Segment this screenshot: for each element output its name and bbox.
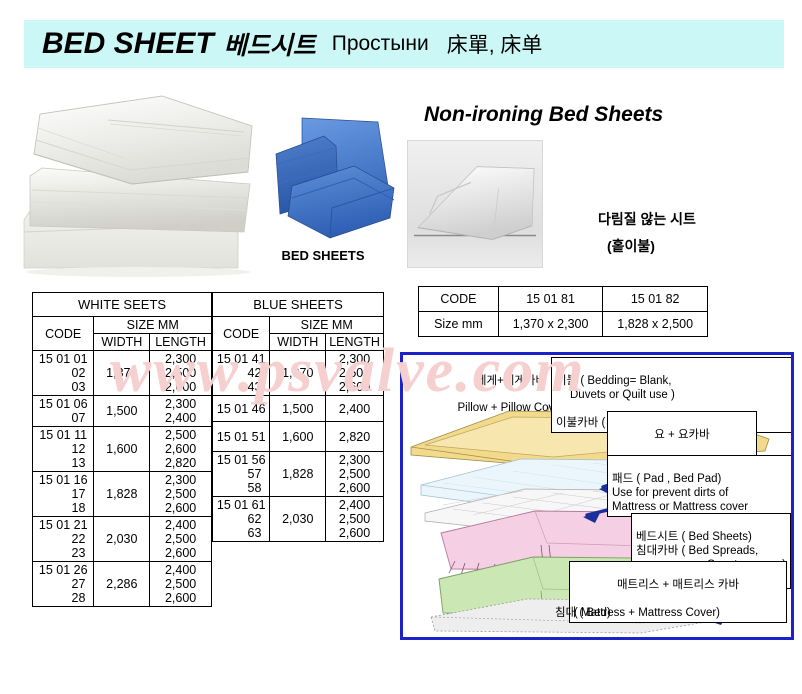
white-header-size: SIZE MM <box>94 317 212 334</box>
white-row-2-width: 1,600 <box>94 427 150 472</box>
table-row: 15 01 414243 1,370 2,300 2,500 2,600 <box>213 351 384 396</box>
blue-row-2-width: 1,600 <box>270 422 326 452</box>
blue-row-0-length: 2,300 2,500 2,600 <box>326 351 384 396</box>
blue-sheets-caption: BED SHEETS <box>258 248 388 263</box>
table-row: 15 01 565758 1,828 2,300 2,500 2,600 <box>213 452 384 497</box>
callout-pad-line3: Mattress or Mattress cover <box>612 501 748 513</box>
blue-header-size: SIZE MM <box>270 317 384 334</box>
white-row-5-width: 2,286 <box>94 562 150 607</box>
white-row-0-code: 15 01 010203 <box>33 351 94 396</box>
white-row-1-width: 1,500 <box>94 396 150 427</box>
page-title-english: BED SHEET <box>42 27 214 61</box>
callout-bedding-line1: 이불 ( Bedding= Blank, <box>556 375 671 387</box>
blue-bed-sheets-photo <box>262 112 398 244</box>
white-row-1-length: 2,300 2,400 <box>150 396 212 427</box>
callout-bedpad-line1: 요 + 요카바 <box>612 428 752 442</box>
bedding-layers-diagram-panel: 베게+베게카바 Pillow + Pillow Cover 이불 ( Beddi… <box>400 352 794 640</box>
callout-sheets-line1: 베드시트 ( Bed Sheets) <box>636 531 752 543</box>
blue-row-3-width: 1,828 <box>270 452 326 497</box>
blue-row-0-code: 15 01 414243 <box>213 351 270 396</box>
white-bed-sheets-photo <box>12 80 264 278</box>
white-row-0-width: 1,370 <box>94 351 150 396</box>
non-ironing-sheet-photo <box>407 140 543 268</box>
table-row: 15 01 010203 1,370 2,300 2,500 2,600 <box>33 351 212 396</box>
blue-row-3-code: 15 01 565758 <box>213 452 270 497</box>
white-row-4-length: 2,400 2,500 2,600 <box>150 517 212 562</box>
page-title-russian: Простыни <box>332 32 429 56</box>
table-row: 15 01 262728 2,286 2,400 2,500 2,600 <box>33 562 212 607</box>
callout-pad-line2: Use for prevent dirts of <box>612 487 728 499</box>
white-row-3-length: 2,300 2,500 2,600 <box>150 472 212 517</box>
size-value-1: 1,370 x 2,300 <box>498 312 603 337</box>
blue-row-4-length: 2,400 2,500 2,600 <box>326 497 384 542</box>
white-row-3-width: 1,828 <box>94 472 150 517</box>
blue-row-2-code: 15 01 51 <box>213 422 270 452</box>
table-row: 15 01 46 1,500 2,400 <box>213 396 384 422</box>
blue-header-code: CODE <box>213 317 270 351</box>
blue-header-length: LENGTH <box>326 334 384 351</box>
blue-row-0-width: 1,370 <box>270 351 326 396</box>
callout-pillow-ko: 베게+베게카바 <box>476 375 546 387</box>
table-row: 15 01 161718 1,828 2,300 2,500 2,600 <box>33 472 212 517</box>
size-value-2: 1,828 x 2,500 <box>603 312 708 337</box>
table-header-row: CODE SIZE MM <box>33 317 212 334</box>
table-row: 15 01 0607 1,500 2,300 2,400 <box>33 396 212 427</box>
blue-row-2-length: 2,820 <box>326 422 384 452</box>
code-value-2: 15 01 82 <box>603 287 708 312</box>
blue-row-4-width: 2,030 <box>270 497 326 542</box>
page-title-korean: 베드시트 <box>224 26 316 62</box>
table-header-row: CODE SIZE MM <box>213 317 384 334</box>
blue-row-1-code: 15 01 46 <box>213 396 270 422</box>
callout-bed: 침대 ( Bed) <box>555 607 611 621</box>
table-title-row: WHITE SEETS <box>33 293 212 317</box>
blue-row-4-code: 15 01 616263 <box>213 497 270 542</box>
table-row: 15 01 111213 1,600 2,500 2,600 2,820 <box>33 427 212 472</box>
white-row-2-code: 15 01 111213 <box>33 427 94 472</box>
white-row-1-code: 15 01 0607 <box>33 396 94 427</box>
table-row: 15 01 616263 2,030 2,400 2,500 2,600 <box>213 497 384 542</box>
callout-pillow-en: Pillow + Pillow Cover <box>457 402 564 414</box>
non-ironing-korean-line2: (홑이불) <box>607 236 655 256</box>
white-row-4-width: 2,030 <box>94 517 150 562</box>
size-row-label: Size mm <box>419 312 499 337</box>
white-row-5-code: 15 01 262728 <box>33 562 94 607</box>
white-sheets-table: WHITE SEETS CODE SIZE MM WIDTH LENGTH 15… <box>32 292 212 607</box>
callout-pad-line1: 패드 ( Pad , Bed Pad) <box>612 473 721 485</box>
white-row-2-length: 2,500 2,600 2,820 <box>150 427 212 472</box>
table-row: 15 01 51 1,600 2,820 <box>213 422 384 452</box>
table-title-row: BLUE SHEETS <box>213 293 384 317</box>
blue-row-1-width: 1,500 <box>270 396 326 422</box>
white-row-3-code: 15 01 161718 <box>33 472 94 517</box>
non-ironing-heading: Non-ironing Bed Sheets <box>424 103 663 127</box>
blue-row-3-length: 2,300 2,500 2,600 <box>326 452 384 497</box>
blue-table-title: BLUE SHEETS <box>213 293 384 317</box>
white-row-0-length: 2,300 2,500 2,600 <box>150 351 212 396</box>
white-header-width: WIDTH <box>94 334 150 351</box>
blue-row-1-length: 2,400 <box>326 396 384 422</box>
table-row: 15 01 212223 2,030 2,400 2,500 2,600 <box>33 517 212 562</box>
blue-sheets-table: BLUE SHEETS CODE SIZE MM WIDTH LENGTH 15… <box>212 292 384 542</box>
nonironing-code-table: CODE 15 01 81 15 01 82 Size mm 1,370 x 2… <box>418 286 708 337</box>
white-row-5-length: 2,400 2,500 2,600 <box>150 562 212 607</box>
page-header-bar: BED SHEET 베드시트 Простыни 床單, 床单 <box>24 20 784 68</box>
code-row-label: CODE <box>419 287 499 312</box>
white-row-4-code: 15 01 212223 <box>33 517 94 562</box>
blue-header-width: WIDTH <box>270 334 326 351</box>
code-value-1: 15 01 81 <box>498 287 603 312</box>
table-row: CODE 15 01 81 15 01 82 <box>419 287 708 312</box>
callout-sheets-line2: 침대카바 ( Bed Spreads, <box>636 545 758 557</box>
table-row: Size mm 1,370 x 2,300 1,828 x 2,500 <box>419 312 708 337</box>
callout-bedding-line2: Duvets or Quilt use ) <box>556 388 790 402</box>
white-header-code: CODE <box>33 317 94 351</box>
callout-mattress-line1: 매트리스 + 매트리스 카바 <box>574 578 782 592</box>
white-table-title: WHITE SEETS <box>33 293 212 317</box>
white-header-length: LENGTH <box>150 334 212 351</box>
non-ironing-korean-line1: 다림질 않는 시트 <box>598 209 696 229</box>
page-title-chinese: 床單, 床单 <box>447 29 543 59</box>
callout-pad: 패드 ( Pad , Bed Pad) Use for prevent dirt… <box>607 455 793 517</box>
